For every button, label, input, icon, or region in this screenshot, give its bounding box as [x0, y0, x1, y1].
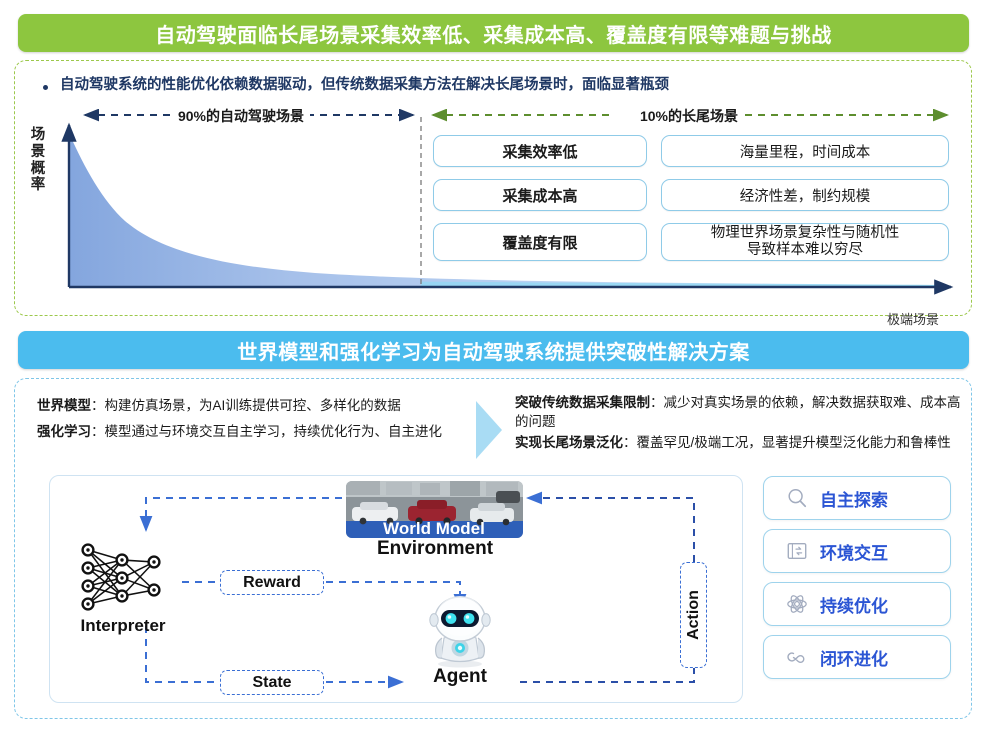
section1-bullet-text: 自动驾驶系统的性能优化依赖数据驱动，但传统数据采集方法在解决长尾场景时，面临显著… — [60, 75, 669, 97]
solution-right-line: 实现长尾场景泛化：覆盖罕见/极端工况，显著提升模型泛化能力和鲁棒性 — [515, 433, 967, 452]
solution-left-sep: ： — [91, 398, 105, 413]
right-chevron-arrow-icon — [470, 399, 506, 461]
solution-left-line: 世界模型：构建仿真场景，为AI训练提供可控、多样化的数据 — [37, 393, 447, 419]
edge-agent-to-action — [520, 668, 694, 682]
capability-card-label: 持续优化 — [820, 592, 888, 617]
solution-right-text: 突破传统数据采集限制：减少对真实场景的依赖，解决数据获取难、成本高的问题 实现长… — [515, 393, 967, 454]
solution-right-sep: ： — [650, 395, 664, 410]
section2-title: 世界模型和强化学习为自动驾驶系统提供突破性解决方案 — [237, 336, 750, 365]
capability-card[interactable]: 自主探索 — [763, 476, 951, 520]
solution-left-key: 强化学习 — [37, 424, 91, 439]
problem-title-column: 采集效率低 采集成本高 覆盖度有限 — [433, 135, 647, 261]
capability-card-label: 闭环进化 — [820, 645, 888, 670]
solution-right-key: 突破传统数据采集限制 — [515, 395, 650, 410]
problem-title-box[interactable]: 采集成本高 — [433, 179, 647, 211]
solution-right-body: 覆盖罕见/极端工况，显著提升模型泛化能力和鲁棒性 — [637, 435, 951, 450]
section2-header-banner: 世界模型和强化学习为自动驾驶系统提供突破性解决方案 — [18, 331, 969, 369]
section1-title: 自动驾驶面临长尾场景采集效率低、采集成本高、覆盖度有限等难题与挑战 — [155, 19, 832, 48]
section1-bullet-row: 自动驾驶系统的性能优化依赖数据驱动，但传统数据采集方法在解决长尾场景时，面临显著… — [43, 75, 669, 97]
environment-label: Environment — [330, 538, 540, 560]
chart-span-left-label-wrap: 90%的自动驾驶场景 — [65, 106, 417, 126]
chart-span-right: 10%的长尾场景 — [419, 109, 959, 131]
capability-card-label: 自主探索 — [820, 486, 888, 511]
world-model-overlay-title: World Model — [383, 519, 485, 538]
solution-left-text: 世界模型：构建仿真场景，为AI训练提供可控、多样化的数据 强化学习：模型通过与环… — [37, 393, 447, 446]
neural-network-icon — [72, 538, 168, 618]
section2-content-panel: 世界模型：构建仿真场景，为AI训练提供可控、多样化的数据 强化学习：模型通过与环… — [14, 378, 972, 719]
problem-title-box[interactable]: 覆盖度有限 — [433, 223, 647, 261]
capability-card-label: 环境交互 — [820, 539, 888, 564]
rl-loop-diagram: Interpreter — [49, 475, 743, 703]
action-node: Action — [680, 562, 707, 668]
world-model-environment-image: World Model — [346, 481, 523, 538]
problem-detail-box[interactable]: 经济性差，制约规模 — [661, 179, 949, 211]
solution-left-body: 构建仿真场景，为AI训练提供可控、多样化的数据 — [105, 398, 401, 413]
chart-span-right-label: 10%的长尾场景 — [634, 108, 744, 124]
chart-x-end-label: 极端场景 — [887, 309, 939, 328]
capability-card-list: 自主探索 环境交互 持续优化 闭环进化 — [763, 476, 951, 679]
solution-right-key: 实现长尾场景泛化 — [515, 435, 623, 450]
problem-detail-line2: 导致样本难以穷尽 — [747, 242, 863, 259]
edge-action-to-env — [528, 498, 694, 562]
solution-left-sep: ： — [91, 424, 105, 439]
solution-right-line: 突破传统数据采集限制：减少对真实场景的依赖，解决数据获取难、成本高的问题 — [515, 393, 967, 431]
exchange-frame-icon — [786, 540, 808, 562]
capability-card[interactable]: 环境交互 — [763, 529, 951, 573]
chart-span-left-label: 90%的自动驾驶场景 — [172, 108, 310, 124]
interpreter-label: Interpreter — [58, 616, 188, 636]
chart-span-left: 90%的自动驾驶场景 — [65, 109, 417, 131]
reward-node: Reward — [220, 570, 324, 595]
state-node: State — [220, 670, 324, 695]
section1-content-panel: 自动驾驶系统的性能优化依赖数据驱动，但传统数据采集方法在解决长尾场景时，面临显著… — [14, 60, 972, 316]
capability-card[interactable]: 持续优化 — [763, 582, 951, 626]
problem-detail-line1: 物理世界场景复杂性与随机性 — [711, 225, 900, 242]
magnifier-icon — [786, 487, 808, 509]
problem-detail-column: 海量里程，时间成本 经济性差，制约规模 物理世界场景复杂性与随机性 导致样本难以… — [661, 135, 949, 261]
problem-detail-box[interactable]: 物理世界场景复杂性与随机性 导致样本难以穷尽 — [661, 223, 949, 261]
edge-env-to-interpreter — [146, 498, 342, 530]
solution-left-key: 世界模型 — [37, 398, 91, 413]
problem-title-box[interactable]: 采集效率低 — [433, 135, 647, 167]
bullet-dot-icon — [43, 85, 48, 90]
capability-card[interactable]: 闭环进化 — [763, 635, 951, 679]
atom-icon — [786, 593, 808, 615]
infinity-loop-icon — [786, 646, 808, 668]
solution-left-body: 模型通过与环境交互自主学习，持续优化行为、自主进化 — [105, 424, 443, 439]
solution-left-line: 强化学习：模型通过与环境交互自主学习，持续优化行为、自主进化 — [37, 419, 447, 445]
solution-right-sep: ： — [623, 435, 637, 450]
chart-span-right-label-wrap: 10%的长尾场景 — [419, 106, 959, 126]
robot-agent-icon — [424, 586, 496, 668]
action-label: Action — [685, 590, 703, 640]
problem-box-grid: 采集效率低 采集成本高 覆盖度有限 海量里程，时间成本 经济性差，制约规模 物理… — [433, 135, 959, 261]
section1-header-banner: 自动驾驶面临长尾场景采集效率低、采集成本高、覆盖度有限等难题与挑战 — [18, 14, 969, 52]
problem-detail-box[interactable]: 海量里程，时间成本 — [661, 135, 949, 167]
agent-label: Agent — [402, 666, 518, 688]
